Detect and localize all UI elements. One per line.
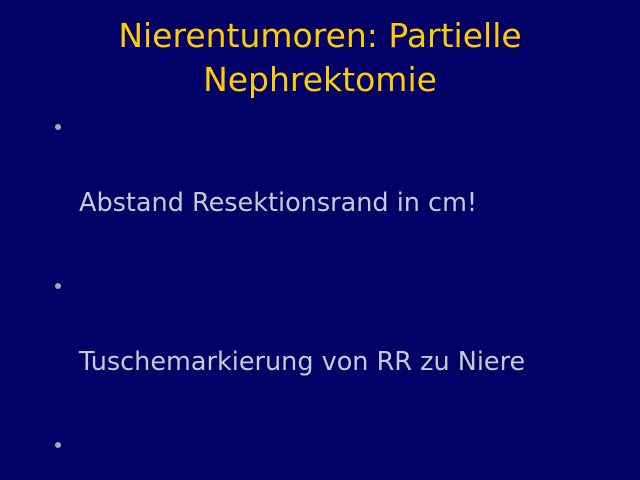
bullet-dot-icon bbox=[55, 124, 61, 130]
bullet-text: Abstand Resektionsrand in cm! bbox=[79, 184, 620, 222]
bullet-item: Schnellschnitt: Kapseldurchbruch und Bez… bbox=[50, 426, 620, 480]
bullet-dot-icon bbox=[55, 283, 61, 289]
bullet-item: Tuschemarkierung von RR zu Niere bbox=[50, 267, 620, 419]
presentation-slide: Nierentumoren: Partielle Nephrektomie Ab… bbox=[0, 0, 640, 480]
bullet-text: Tuschemarkierung von RR zu Niere bbox=[79, 343, 620, 381]
bullet-dot-icon bbox=[55, 442, 61, 448]
slide-title: Nierentumoren: Partielle Nephrektomie bbox=[0, 14, 640, 102]
bullet-item: Abstand Resektionsrand in cm! bbox=[50, 108, 620, 260]
bullet-list: Abstand Resektionsrand in cm! Tuschemark… bbox=[50, 108, 620, 480]
